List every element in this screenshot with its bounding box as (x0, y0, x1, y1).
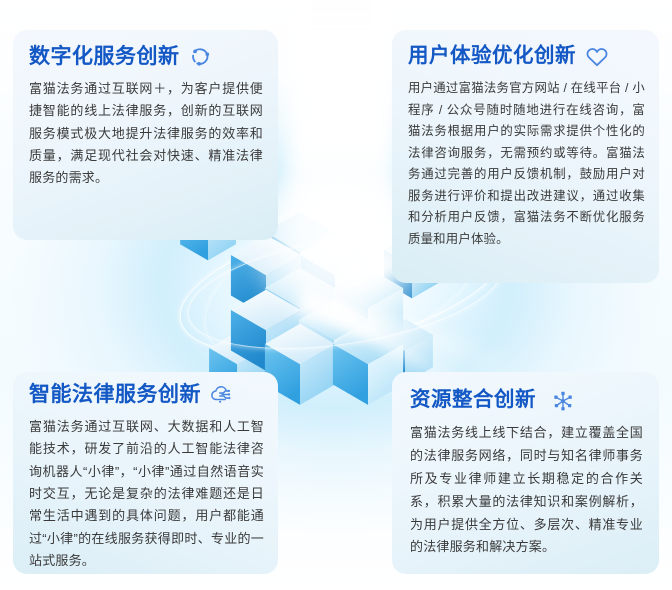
card-header: 数字化服务创新 (29, 44, 263, 69)
card-title: 用户体验优化创新 (408, 45, 576, 68)
card-title: 资源整合创新 (410, 389, 536, 412)
card-body: 用户通过富猫法务官方网站 / 在线平台 / 小程序 / 公众号随时随地进行在线咨… (408, 78, 645, 251)
card-title: 数字化服务创新 (29, 45, 180, 68)
light-ray (296, 287, 523, 383)
refresh-cycle-icon (188, 44, 213, 69)
card-header: 用户体验优化创新 (408, 44, 645, 69)
cloud-ai-icon (209, 382, 234, 407)
card-header: 智能法律服务创新 (29, 382, 264, 407)
heart-icon (584, 44, 609, 69)
card-title: 智能法律服务创新 (29, 383, 201, 406)
card-resource-integration-innovation[interactable]: 资源整合创新 (392, 372, 659, 574)
card-body: 富猫法务通过互联网、大数据和人工智能技术，研发了前沿的人工智能法律咨询机器人“小… (29, 416, 264, 573)
card-header: 资源整合创新 (410, 388, 643, 413)
card-intelligent-legal-service-innovation[interactable]: 智能法律服务创新 富猫法务通过互联网、大数据和人工智能技术，研发了前沿的人工智能… (13, 372, 278, 574)
network-hub-icon (550, 388, 575, 413)
light-beam (286, 0, 396, 290)
card-body: 富猫法务线上线下结合，建立覆盖全国的法律服务网络，同时与知名律师事务所及专业律师… (410, 422, 643, 559)
promo-page: 数字化服务创新 富猫法务通过互联网＋，为客户提供便捷智能的线上法律服务，创新的互… (0, 0, 672, 590)
card-user-experience-optimization-innovation[interactable]: 用户体验优化创新 用户通过富猫法务官方网站 / 在线平台 / 小程序 / 公众号… (392, 30, 659, 283)
card-body: 富猫法务通过互联网＋，为客户提供便捷智能的线上法律服务，创新的互联网服务模式极大… (29, 78, 263, 190)
card-digital-service-innovation[interactable]: 数字化服务创新 富猫法务通过互联网＋，为客户提供便捷智能的线上法律服务，创新的互… (13, 30, 278, 240)
